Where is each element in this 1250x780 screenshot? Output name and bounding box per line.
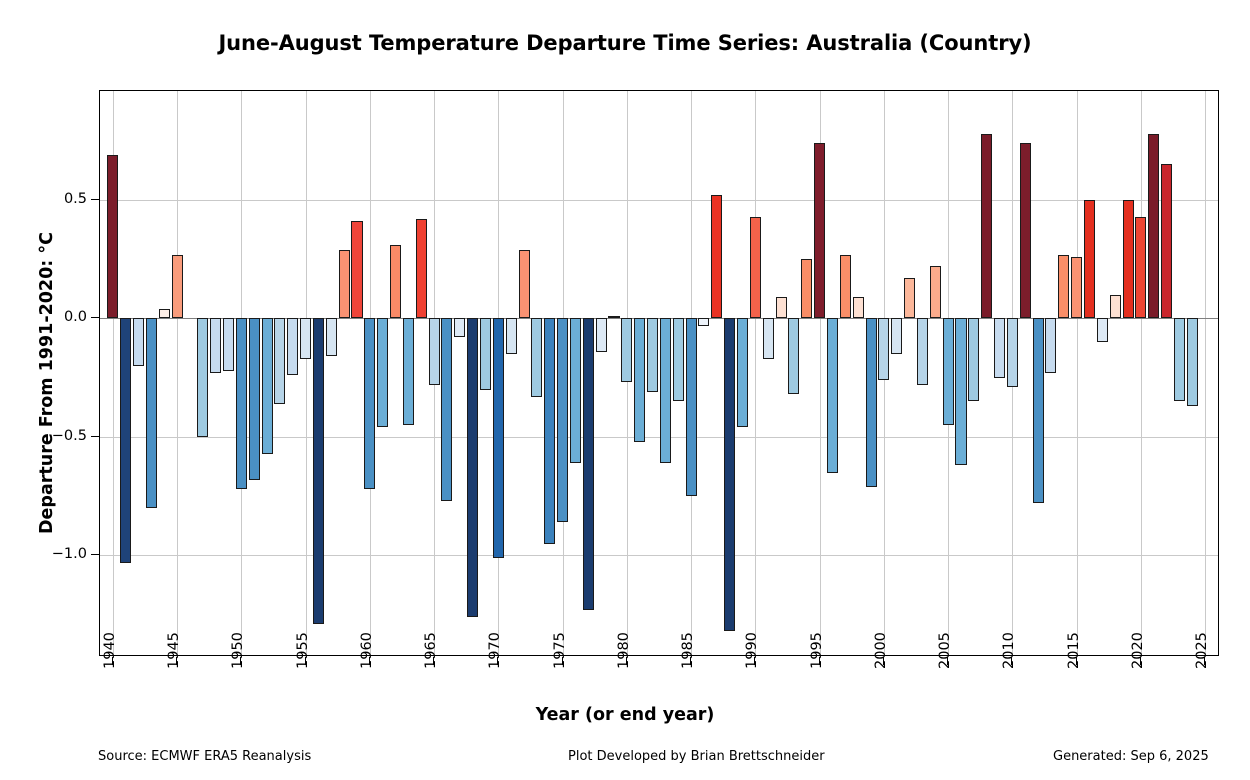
x-tick-label: 1985 <box>680 632 696 669</box>
bar <box>210 318 221 373</box>
x-tick-label: 1980 <box>616 632 632 669</box>
footer-generated: Generated: Sep 6, 2025 <box>1053 749 1209 764</box>
bar <box>673 318 684 401</box>
bar <box>981 134 992 319</box>
bar <box>930 266 941 318</box>
bar <box>788 318 799 394</box>
bar <box>146 318 157 508</box>
x-tick-label: 2010 <box>1001 632 1017 669</box>
bar <box>686 318 697 496</box>
bar <box>364 318 375 489</box>
y-tick-mark <box>91 436 99 437</box>
bar <box>1135 217 1146 319</box>
bar <box>493 318 504 557</box>
x-tick-label: 2020 <box>1130 632 1146 669</box>
bar <box>737 318 748 427</box>
plot-area <box>99 90 1219 656</box>
bar <box>596 318 607 351</box>
bar <box>1071 257 1082 319</box>
bar <box>917 318 928 384</box>
x-tick-label: 1990 <box>744 632 760 669</box>
bar <box>814 143 825 318</box>
x-tick-label: 1975 <box>552 632 568 669</box>
bar <box>1123 200 1134 318</box>
bar <box>480 318 491 389</box>
x-tick-label: 2025 <box>1194 632 1210 669</box>
bar <box>339 250 350 319</box>
bar <box>904 278 915 318</box>
x-tick-label: 1955 <box>295 632 311 669</box>
bar <box>133 318 144 365</box>
bar <box>943 318 954 425</box>
x-tick-label: 1950 <box>230 632 246 669</box>
bar <box>698 318 709 325</box>
bar <box>1007 318 1018 387</box>
bar <box>223 318 234 370</box>
bar <box>621 318 632 382</box>
bar <box>262 318 273 453</box>
bar <box>801 259 812 318</box>
bar <box>107 155 118 319</box>
bar <box>506 318 517 354</box>
bar <box>711 195 722 318</box>
bar <box>660 318 671 463</box>
bar <box>403 318 414 425</box>
bar <box>1187 318 1198 406</box>
bar <box>326 318 337 356</box>
bar <box>776 297 787 318</box>
bar <box>1058 255 1069 319</box>
x-tick-label: 2000 <box>873 632 889 669</box>
bar <box>878 318 889 380</box>
x-tick-label: 2005 <box>937 632 953 669</box>
bar <box>1097 318 1108 342</box>
bar <box>724 318 735 631</box>
bar <box>159 309 170 318</box>
bar <box>1148 134 1159 319</box>
bar <box>1174 318 1185 401</box>
bar <box>274 318 285 403</box>
chart-title: June-August Temperature Departure Time S… <box>0 31 1250 55</box>
bar <box>634 318 645 441</box>
bar <box>544 318 555 543</box>
bar <box>840 255 851 319</box>
bar <box>1110 295 1121 319</box>
bar <box>120 318 131 562</box>
bar <box>519 250 530 319</box>
bar <box>416 219 427 319</box>
bar <box>570 318 581 463</box>
bar <box>313 318 324 624</box>
bar <box>390 245 401 318</box>
bar <box>377 318 388 427</box>
bar <box>853 297 864 318</box>
bar <box>287 318 298 375</box>
bar <box>300 318 311 358</box>
bar <box>891 318 902 354</box>
bar <box>236 318 247 489</box>
y-tick-mark <box>91 317 99 318</box>
x-tick-label: 1995 <box>809 632 825 669</box>
bar <box>1033 318 1044 503</box>
x-tick-label: 1970 <box>487 632 503 669</box>
x-axis-label: Year (or end year) <box>0 705 1250 725</box>
bar <box>351 221 362 318</box>
bar <box>1084 200 1095 318</box>
bar <box>531 318 542 396</box>
bar <box>955 318 966 465</box>
bar <box>1161 164 1172 318</box>
x-tick-label: 2015 <box>1066 632 1082 669</box>
bar <box>994 318 1005 377</box>
bar <box>608 316 619 318</box>
x-tick-label: 1945 <box>166 632 182 669</box>
bar <box>827 318 838 472</box>
bar <box>1020 143 1031 318</box>
bar-series-layer <box>100 91 1218 655</box>
footer: Source: ECMWF ERA5 Reanalysis Plot Devel… <box>0 749 1250 769</box>
footer-credit: Plot Developed by Brian Brettschneider <box>568 749 825 764</box>
footer-source: Source: ECMWF ERA5 Reanalysis <box>98 749 311 764</box>
x-tick-label: 1960 <box>359 632 375 669</box>
bar <box>557 318 568 522</box>
bar <box>750 217 761 319</box>
bar <box>441 318 452 500</box>
bar <box>647 318 658 391</box>
bar <box>583 318 594 609</box>
x-tick-label: 1940 <box>102 632 118 669</box>
y-axis-label: Departure From 1991-2020: °C <box>37 103 57 663</box>
bar <box>1045 318 1056 373</box>
y-tick-mark <box>91 554 99 555</box>
bar <box>197 318 208 436</box>
bar <box>968 318 979 401</box>
bar <box>172 255 183 319</box>
bar <box>454 318 465 337</box>
bar <box>467 318 478 617</box>
bar <box>866 318 877 486</box>
bar <box>429 318 440 384</box>
bar <box>763 318 774 358</box>
y-tick-mark <box>91 199 99 200</box>
bar <box>249 318 260 479</box>
x-tick-label: 1965 <box>423 632 439 669</box>
